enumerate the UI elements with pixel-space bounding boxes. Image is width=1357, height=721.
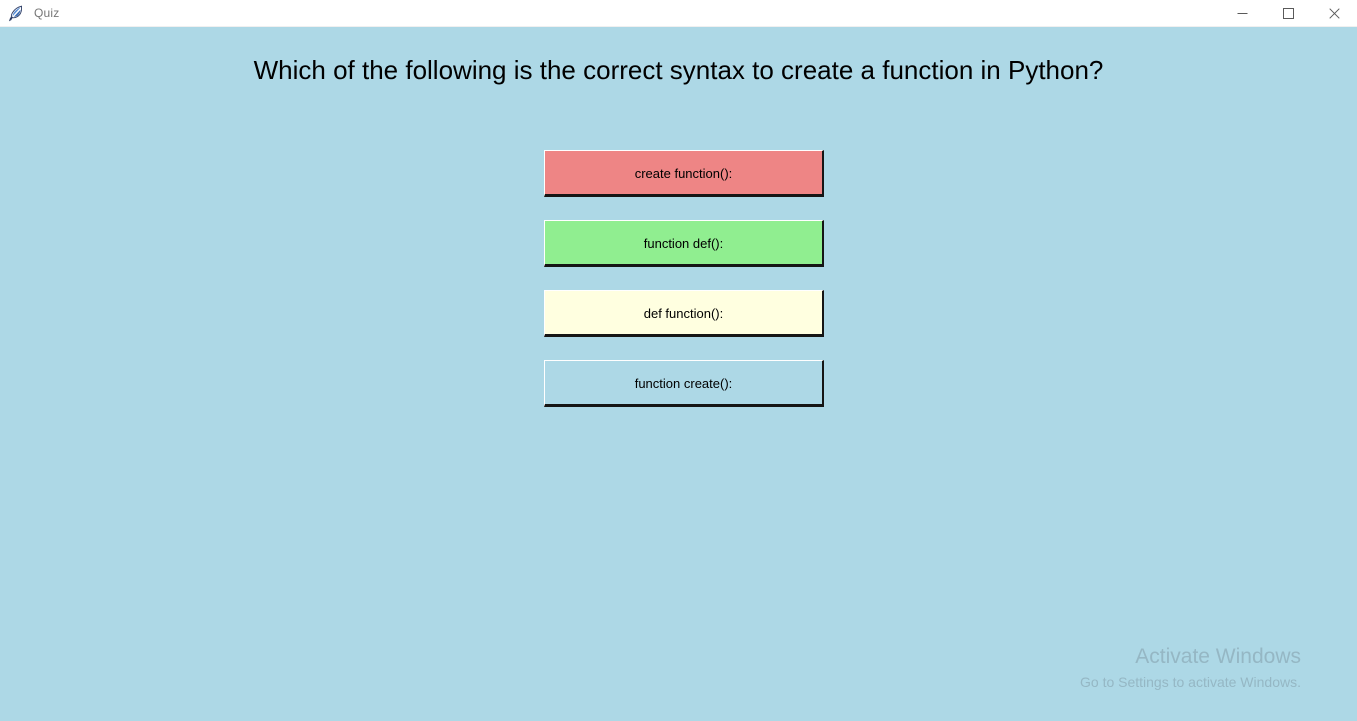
question-text: Which of the following is the correct sy… [0,54,1357,86]
answer-option-1[interactable]: create function(): [544,150,824,197]
answer-option-2[interactable]: function def(): [544,220,824,267]
window-title: Quiz [34,6,59,20]
answer-option-3[interactable]: def function(): [544,290,824,337]
watermark-subtitle: Go to Settings to activate Windows. [1080,672,1301,692]
answer-option-4[interactable]: function create(): [544,360,824,407]
quiz-window-body: Which of the following is the correct sy… [0,27,1357,721]
close-button[interactable] [1311,0,1357,27]
window-controls [1219,0,1357,27]
minimize-button[interactable] [1219,0,1265,27]
answer-options-list: create function(): function def(): def f… [544,150,824,430]
window-titlebar: Quiz [0,0,1357,27]
activate-windows-watermark: Activate Windows Go to Settings to activ… [1080,644,1301,692]
maximize-button[interactable] [1265,0,1311,27]
watermark-title: Activate Windows [1080,644,1301,670]
feather-quill-icon [5,2,27,24]
